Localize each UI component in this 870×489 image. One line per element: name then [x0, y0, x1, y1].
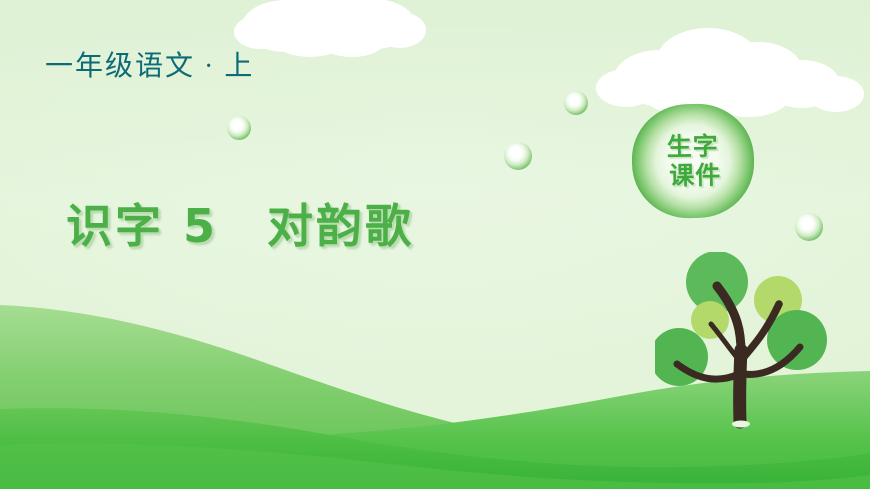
cloud-right-icon — [588, 12, 870, 122]
badge-label-line2: 课件 — [669, 162, 721, 190]
bubble-decoration-2 — [564, 91, 588, 115]
tree-trunk — [677, 286, 800, 422]
bubble-decoration-3 — [504, 142, 532, 170]
courseware-badge[interactable]: 生字 课件 — [631, 103, 755, 219]
tree-base-shadow — [732, 421, 750, 428]
course-subtitle: 一年级语文 · 上 — [45, 44, 254, 84]
cloud-left-icon — [228, 0, 428, 66]
hills-illustration — [0, 269, 870, 489]
slide-canvas: 一年级语文 · 上 识字 5 对韵歌 生字 课件 — [0, 0, 870, 489]
tree-foliage — [655, 252, 827, 386]
page-title: 识字 5 对韵歌 — [66, 190, 414, 256]
bubble-decoration-1 — [227, 116, 251, 140]
bubble-decoration-4 — [795, 213, 823, 241]
badge-label-line1: 生字 — [666, 133, 718, 161]
tree-illustration — [655, 252, 870, 437]
